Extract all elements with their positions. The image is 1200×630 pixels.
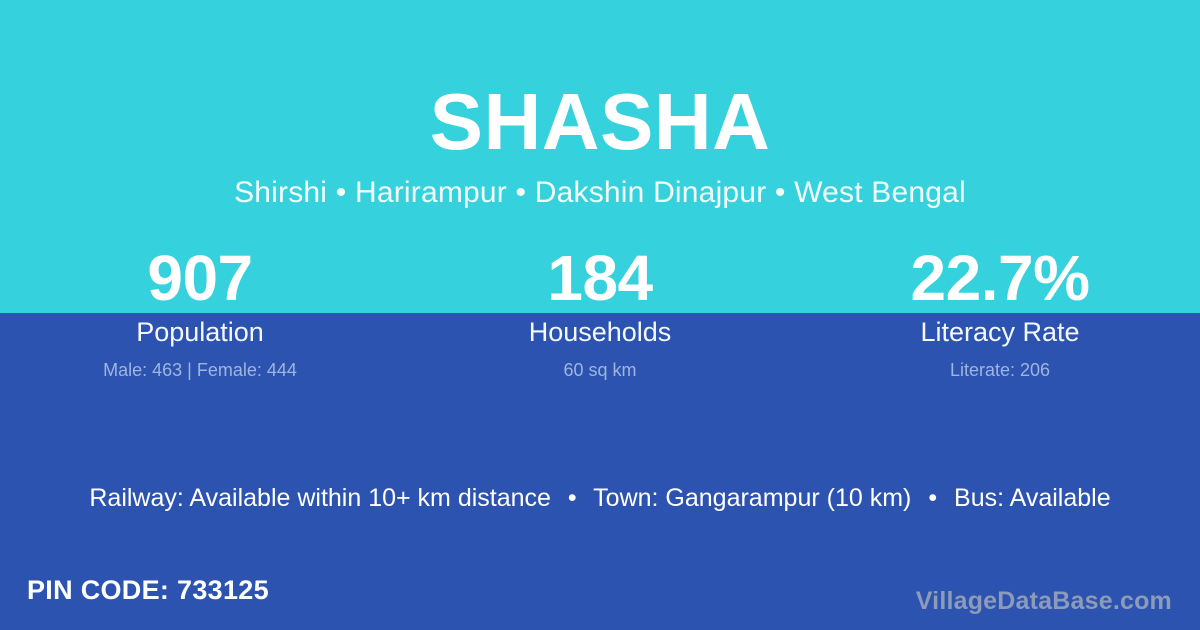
stat-label: Literacy Rate xyxy=(800,313,1200,347)
infra-town: Town: Gangarampur (10 km) xyxy=(593,484,911,512)
infra-separator: • xyxy=(918,481,947,515)
site-watermark: VillageDataBase.com xyxy=(916,586,1172,616)
stat-households: 184 Households 60 sq km xyxy=(400,246,800,381)
stat-sub: 60 sq km xyxy=(400,347,800,381)
stat-value: 907 xyxy=(0,246,400,313)
stat-sub: Literate: 206 xyxy=(800,347,1200,381)
stat-literacy-rate: 22.7% Literacy Rate Literate: 206 xyxy=(800,246,1200,381)
village-info-card: SHASHA Shirshi • Harirampur • Dakshin Di… xyxy=(0,0,1200,630)
stat-label: Population xyxy=(0,313,400,347)
infrastructure-row: Railway: Available within 10+ km distanc… xyxy=(0,481,1200,515)
stat-label: Households xyxy=(400,313,800,347)
card-header: SHASHA Shirshi • Harirampur • Dakshin Di… xyxy=(0,0,1200,208)
stat-population: 907 Population Male: 463 | Female: 444 xyxy=(0,246,400,381)
infra-separator: • xyxy=(558,481,587,515)
pin-code: PIN CODE: 733125 xyxy=(27,573,269,607)
infra-railway: Railway: Available within 10+ km distanc… xyxy=(89,484,551,512)
infra-bus: Bus: Available xyxy=(954,484,1111,512)
breadcrumb: Shirshi • Harirampur • Dakshin Dinajpur … xyxy=(0,162,1200,208)
stat-value: 22.7% xyxy=(800,246,1200,313)
stats-row: 907 Population Male: 463 | Female: 444 1… xyxy=(0,246,1200,381)
page-title: SHASHA xyxy=(0,0,1200,162)
stat-sub: Male: 463 | Female: 444 xyxy=(0,347,400,381)
stat-value: 184 xyxy=(400,246,800,313)
